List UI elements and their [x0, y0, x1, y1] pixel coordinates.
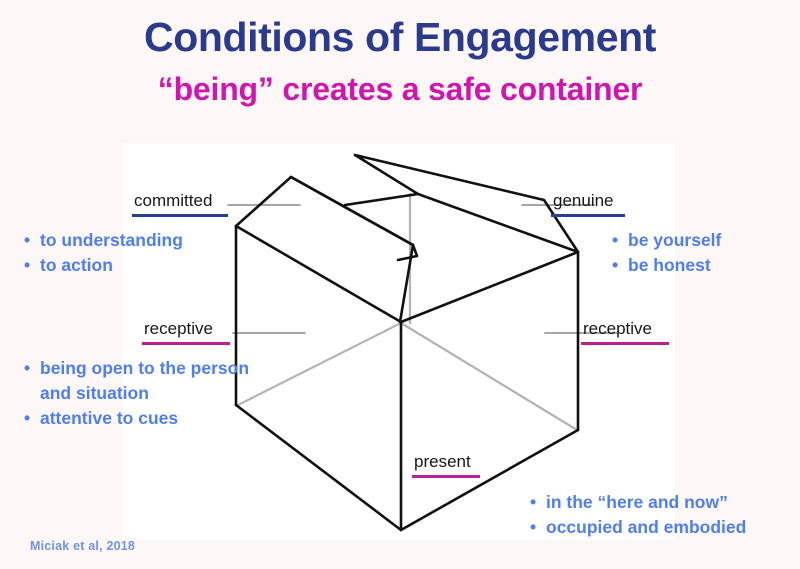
bullet-list-present: • in the “here and now” • occupied and e…: [530, 490, 795, 540]
citation-text: Miciak et al, 2018: [30, 539, 135, 553]
list-item: • be honest: [612, 253, 797, 278]
label-committed: committed: [132, 192, 228, 217]
bullet-dot-icon: •: [24, 356, 40, 381]
slide-canvas: Conditions of Engagement “being” creates…: [0, 0, 800, 569]
label-receptive-left-underline: [142, 342, 230, 345]
label-present: present: [412, 453, 480, 478]
label-present-text: present: [412, 453, 480, 472]
bullet-dot-icon: •: [612, 253, 628, 278]
bullet-list-genuine: • be yourself • be honest: [612, 228, 797, 278]
label-genuine-underline: [551, 214, 625, 217]
list-item-text: being open to the person and situation: [40, 356, 259, 406]
list-item: • to understanding: [24, 228, 259, 253]
bullet-list-committed: • to understanding • to action: [24, 228, 259, 278]
label-receptive-right: receptive: [581, 320, 669, 345]
label-genuine-text: genuine: [551, 192, 625, 211]
list-item-text: be yourself: [628, 228, 797, 253]
list-item: • to action: [24, 253, 259, 278]
page-subtitle: “being” creates a safe container: [0, 72, 800, 107]
list-item-text: be honest: [628, 253, 797, 278]
list-item-text: in the “here and now”: [546, 490, 795, 515]
list-item-text: attentive to cues: [40, 406, 259, 431]
label-receptive-right-text: receptive: [581, 320, 669, 339]
list-item: • occupied and embodied: [530, 515, 795, 540]
label-receptive-right-underline: [581, 342, 669, 345]
page-title: Conditions of Engagement: [0, 16, 800, 59]
list-item: • attentive to cues: [24, 406, 259, 431]
bullet-dot-icon: •: [24, 406, 40, 431]
bullet-dot-icon: •: [612, 228, 628, 253]
label-present-underline: [412, 475, 480, 478]
label-receptive-left-text: receptive: [142, 320, 230, 339]
list-item: • in the “here and now”: [530, 490, 795, 515]
bullet-list-receptive-left: • being open to the person and situation…: [24, 356, 259, 431]
list-item: • be yourself: [612, 228, 797, 253]
label-receptive-left: receptive: [142, 320, 230, 345]
bullet-dot-icon: •: [24, 253, 40, 278]
label-committed-text: committed: [132, 192, 228, 211]
list-item-text: to action: [40, 253, 259, 278]
list-item: • being open to the person and situation: [24, 356, 259, 406]
list-item-text: to understanding: [40, 228, 259, 253]
list-item-text: occupied and embodied: [546, 515, 795, 540]
bullet-dot-icon: •: [24, 228, 40, 253]
label-genuine: genuine: [551, 192, 625, 217]
bullet-dot-icon: •: [530, 490, 546, 515]
label-committed-underline: [132, 214, 228, 217]
bullet-dot-icon: •: [530, 515, 546, 540]
